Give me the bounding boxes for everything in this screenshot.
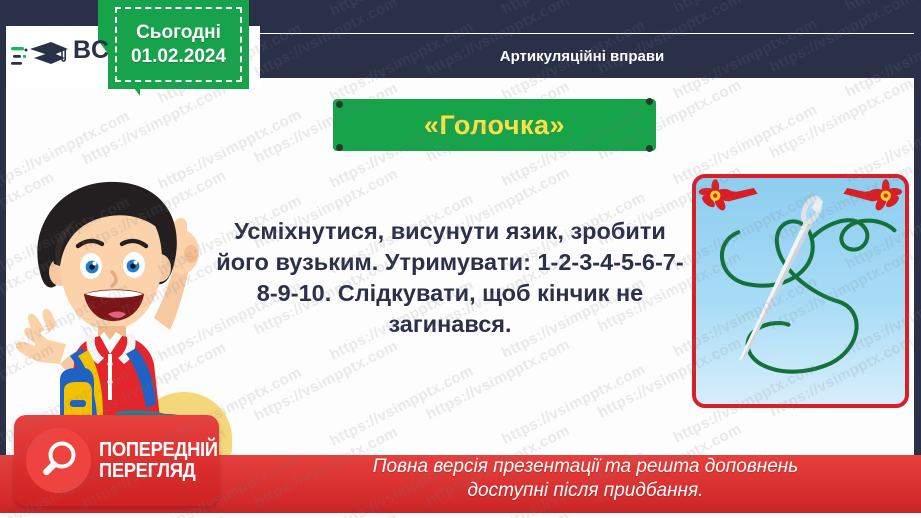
preview-badge-text: ПОПЕРЕДНІЙ ПЕРЕГЛЯД bbox=[99, 440, 228, 481]
footer-message: Повна версія презентації та решта доповн… bbox=[250, 455, 921, 504]
preview-badge[interactable]: ПОПЕРЕДНІЙ ПЕРЕГЛЯД bbox=[14, 415, 219, 506]
exercise-title: «Голочка» bbox=[424, 110, 565, 141]
graduation-cap-icon bbox=[10, 37, 70, 77]
needle-thread-picture bbox=[692, 174, 909, 408]
right-navy-strip bbox=[914, 0, 921, 455]
ribbon-dot-top-left bbox=[336, 101, 343, 108]
exercise-instructions: Усміхнутися, висунути язик, зробити його… bbox=[210, 216, 690, 340]
preview-badge-line2: ПЕРЕГЛЯД bbox=[99, 461, 218, 481]
cartoon-schoolboy-illustration bbox=[4, 168, 216, 440]
ribbon-dot-bottom-right bbox=[646, 145, 653, 152]
needle-thread-drawing bbox=[696, 178, 905, 404]
watermark-text: https://vsimpptx.com bbox=[327, 362, 476, 449]
footer-message-line2: доступні після придбання. bbox=[250, 479, 921, 503]
ribbon-dot-bottom-left bbox=[336, 144, 343, 151]
preview-badge-line1: ПОПЕРЕДНІЙ bbox=[99, 440, 218, 460]
today-value: 01.02.2024 bbox=[131, 46, 226, 68]
today-label: Сьогодні bbox=[136, 22, 221, 44]
magnifier-icon bbox=[26, 428, 91, 493]
ribbon-dot-top-right bbox=[646, 98, 653, 105]
footer-bottom-strip bbox=[0, 513, 921, 518]
header-title-bar: Артикуляційні вправи bbox=[250, 34, 914, 78]
watermark-text: https://vsimpptx.com bbox=[251, 337, 400, 424]
watermark-text: https://vsimpptx.com bbox=[80, 81, 229, 168]
footer-message-line1: Повна версія презентації та решта доповн… bbox=[250, 455, 921, 479]
today-date-chip: Сьогодні 01.02.2024 bbox=[108, 0, 249, 89]
exercise-title-ribbon: «Голочка» bbox=[333, 99, 656, 151]
watermark-text: https://vsimpptx.com bbox=[423, 336, 572, 423]
slide-canvas: BCIM pptx Сьогодні 01.02.2024 Артикуляці… bbox=[0, 0, 921, 518]
watermark-text: https://vsimpptx.com bbox=[499, 361, 648, 448]
watermark-text: https://vsimpptx.com bbox=[767, 75, 916, 162]
red-flower-icon bbox=[699, 179, 902, 212]
page-title: Артикуляційні вправи bbox=[500, 48, 665, 65]
